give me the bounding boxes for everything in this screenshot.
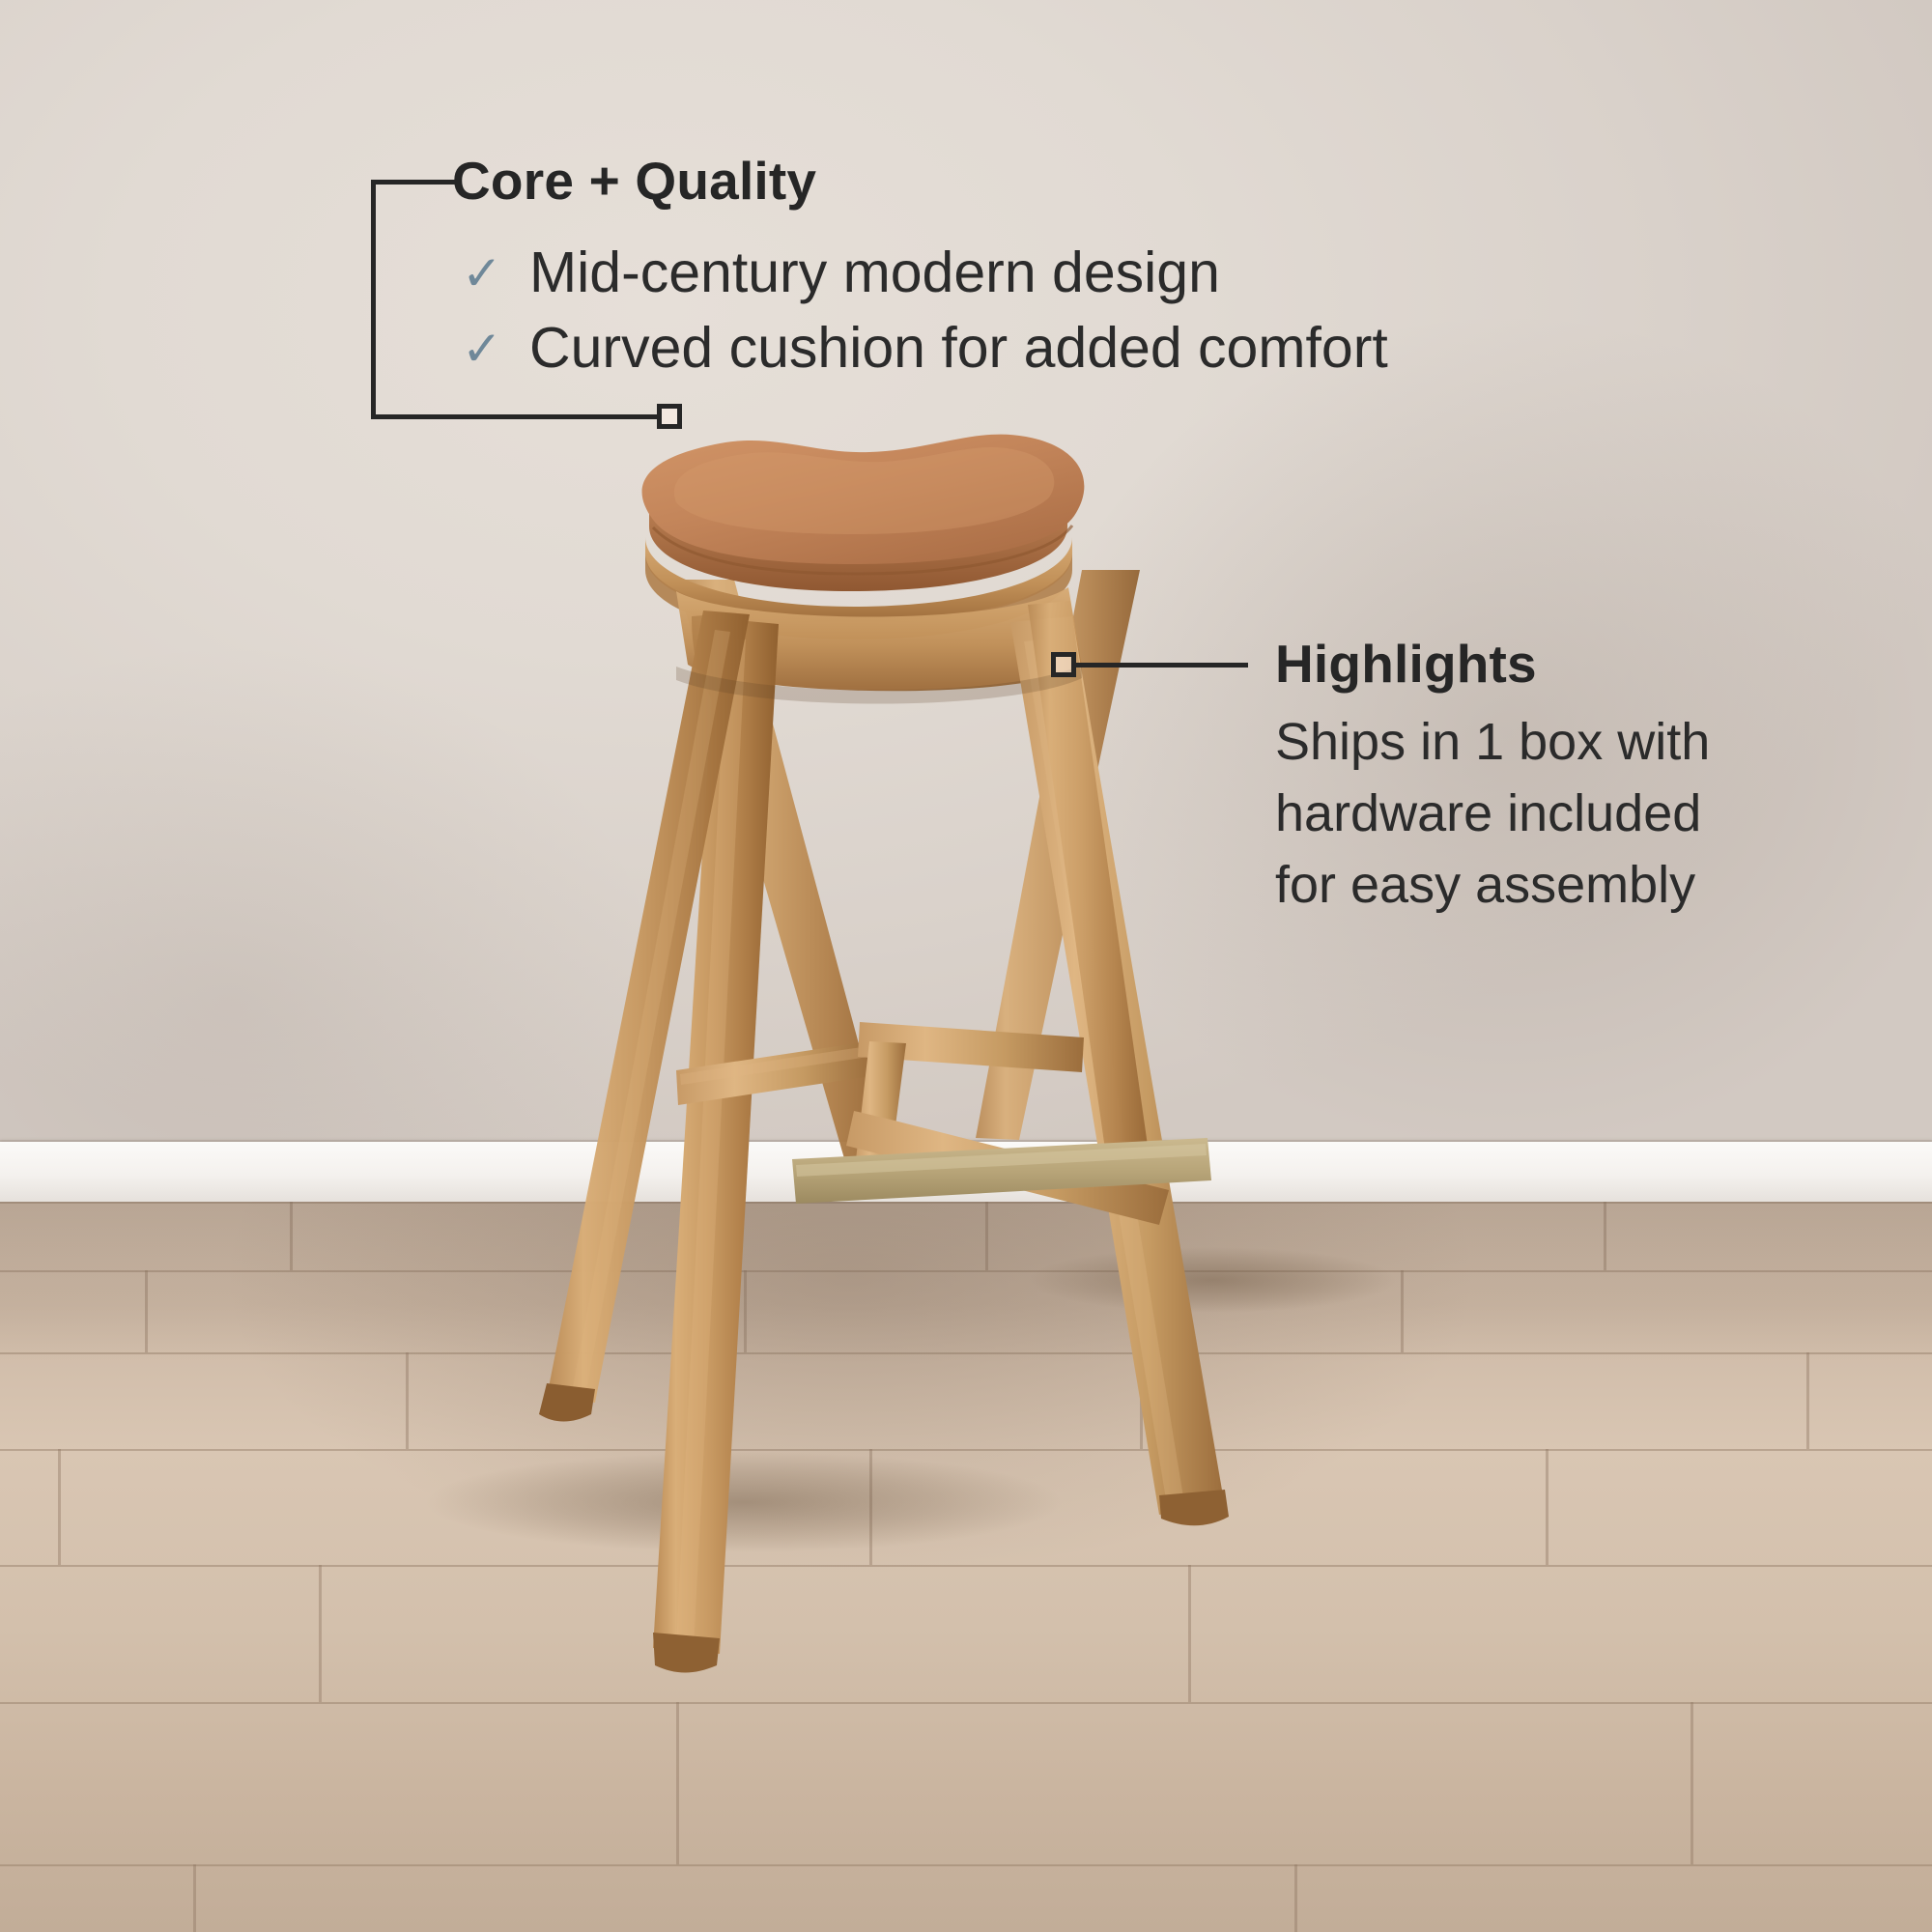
seat-marker	[657, 404, 682, 429]
callout-text-line-3: for easy assembly	[1275, 855, 1695, 915]
leader-top-stub	[371, 180, 460, 185]
check-icon: ✓	[462, 249, 502, 298]
check-icon: ✓	[462, 325, 502, 373]
product-infographic: Core + Quality ✓ Mid-century modern desi…	[0, 0, 1932, 1932]
leader-run	[1076, 663, 1248, 668]
leader-bottom-run	[371, 414, 661, 419]
callout-text-line-2: hardware included	[1275, 783, 1701, 843]
callout-title-highlights: Highlights	[1275, 633, 1537, 695]
leader-vertical	[371, 180, 376, 419]
callout-title-core-quality: Core + Quality	[452, 150, 816, 212]
leg-marker	[1051, 652, 1076, 677]
callout-bullet-2: Curved cushion for added comfort	[529, 315, 1388, 381]
callout-bullet-1: Mid-century modern design	[529, 240, 1220, 305]
annotation-layer: Core + Quality ✓ Mid-century modern desi…	[0, 0, 1932, 1932]
callout-text-line-1: Ships in 1 box with	[1275, 712, 1710, 772]
